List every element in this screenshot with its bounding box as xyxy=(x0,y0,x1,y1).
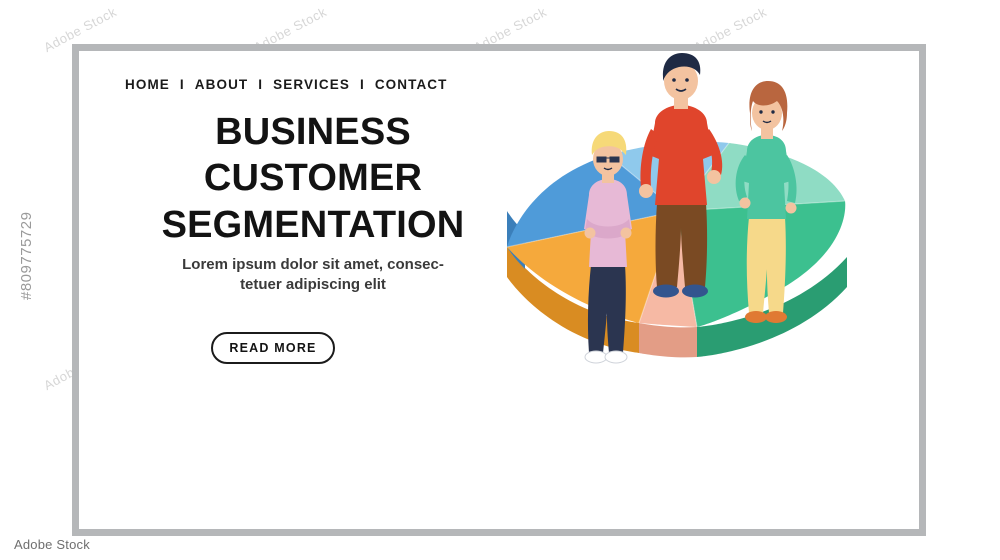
nav-item-about[interactable]: ABOUT xyxy=(195,77,249,92)
nav-separator: I xyxy=(258,77,263,92)
man-shirt xyxy=(649,105,713,205)
man-hand-right xyxy=(707,170,721,184)
man-hand-left xyxy=(639,184,653,198)
nav-separator: I xyxy=(360,77,365,92)
man-eye-right xyxy=(685,78,689,82)
woman-left-shoe-left xyxy=(585,351,607,363)
webpage-frame: HOME I ABOUT I SERVICES I CONTACT BUSINE… xyxy=(72,44,926,536)
pie-chart-people-svg xyxy=(429,51,933,529)
woman-right-hand-hip xyxy=(740,198,751,209)
pie-side-peach xyxy=(639,323,697,357)
man-eye-left xyxy=(672,78,676,82)
read-more-button[interactable]: READ MORE xyxy=(211,332,335,364)
woman-right-pants xyxy=(747,217,786,313)
stock-photo-id: #809775729 xyxy=(18,212,35,300)
read-more-button-label: READ MORE xyxy=(229,341,316,355)
top-navigation: HOME I ABOUT I SERVICES I CONTACT xyxy=(125,77,448,92)
man-shoe-left xyxy=(653,285,679,298)
woman-right-shoe-right xyxy=(765,311,787,323)
woman-left-hand-left xyxy=(621,228,632,239)
man-shoe-right xyxy=(682,285,708,298)
nav-item-services[interactable]: SERVICES xyxy=(273,77,350,92)
nav-separator: I xyxy=(180,77,185,92)
woman-right-eye-right xyxy=(771,110,774,113)
woman-right-top xyxy=(742,135,791,219)
woman-right-hand-free xyxy=(786,203,797,214)
woman-left-hand-right xyxy=(585,228,596,239)
woman-right-eye-left xyxy=(759,110,762,113)
woman-right-shoe-left xyxy=(745,311,767,323)
stock-brand-label: Adobe Stock xyxy=(14,537,90,552)
hero-illustration xyxy=(429,51,933,529)
woman-left-shoe-right xyxy=(605,351,627,363)
nav-item-home[interactable]: HOME xyxy=(125,77,170,92)
